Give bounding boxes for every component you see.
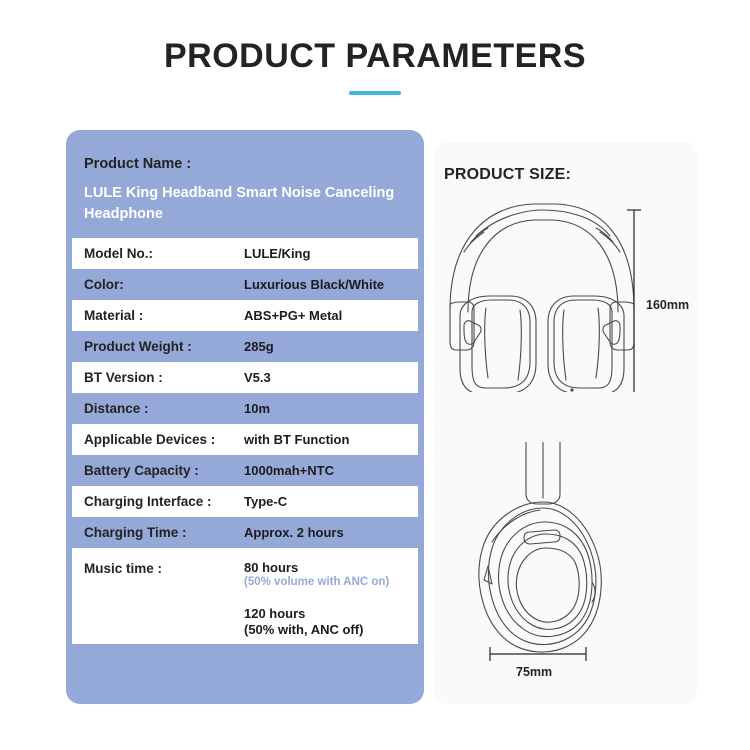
spec-panel: Product Name : LULE King Headband Smart … [66,130,424,704]
table-row: Applicable Devices : with BT Function [72,424,418,455]
page-header: PRODUCT PARAMETERS [0,38,750,95]
spec-value: Luxurious Black/White [244,277,418,292]
spec-value: V5.3 [244,370,418,385]
spec-value: Type-C [244,494,418,509]
spec-value: Approx. 2 hours [244,525,418,540]
headphones-side-view-figure: 75mm [448,442,683,687]
page-title: PRODUCT PARAMETERS [0,38,750,75]
headphones-side-view-icon: 75mm [448,442,683,687]
table-row-music-time: Music time : 80 hours (50% volume with A… [72,548,418,644]
title-accent-rule [349,91,401,95]
dimension-height-label: 160mm [646,298,689,312]
spec-key: Music time : [84,560,244,576]
product-name-label: Product Name : [84,156,406,172]
spec-value: LULE/King [244,246,418,261]
spec-key: BT Version : [84,370,244,385]
spec-key: Product Weight : [84,339,244,354]
spec-value: ABS+PG+ Metal [244,308,418,323]
size-panel-title: PRODUCT SIZE: [444,166,571,184]
music-time-value-2: 120 hours [244,606,418,621]
dimension-depth [490,647,586,661]
table-row: Model No.: LULE/King [72,238,418,269]
product-name-value: LULE King Headband Smart Noise Canceling… [84,183,406,224]
dimension-height [627,210,641,392]
spec-value: 1000mah+NTC [244,463,418,478]
spec-value: with BT Function [244,432,418,447]
spec-key: Material : [84,308,244,323]
spec-key: Charging Interface : [84,494,244,509]
table-row: BT Version : V5.3 [72,362,418,393]
spec-key: Distance : [84,401,244,416]
spec-table: Model No.: LULE/King Color: Luxurious Bl… [66,238,424,644]
spec-value: 285g [244,339,418,354]
spec-key: Model No.: [84,246,244,261]
table-row: Color: Luxurious Black/White [72,269,418,300]
table-row: Product Weight : 285g [72,331,418,362]
headphones-front-view-figure: 160mm 200mm [438,192,693,392]
product-name-block: Product Name : LULE King Headband Smart … [66,130,424,238]
spec-key: Battery Capacity : [84,463,244,478]
spec-value-group: 80 hours (50% volume with ANC on) 120 ho… [244,560,418,638]
dimension-depth-label: 75mm [516,665,552,679]
music-time-note-1: (50% volume with ANC on) [244,575,418,591]
music-time-note-2: (50% with, ANC off) [244,621,418,639]
headphones-front-view-icon: 160mm 200mm [438,192,693,392]
table-row: Charging Time : Approx. 2 hours [72,517,418,548]
spacer [244,591,418,606]
table-row: Material : ABS+PG+ Metal [72,300,418,331]
spec-value: 10m [244,401,418,416]
product-parameters-page: PRODUCT PARAMETERS Product Name : LULE K… [0,0,750,750]
spec-key: Charging Time : [84,525,244,540]
spec-key: Color: [84,277,244,292]
music-time-value-1: 80 hours [244,560,418,575]
spec-key: Applicable Devices : [84,432,244,447]
table-row: Charging Interface : Type-C [72,486,418,517]
table-row: Battery Capacity : 1000mah+NTC [72,455,418,486]
table-row: Distance : 10m [72,393,418,424]
size-panel: PRODUCT SIZE: [434,142,697,704]
